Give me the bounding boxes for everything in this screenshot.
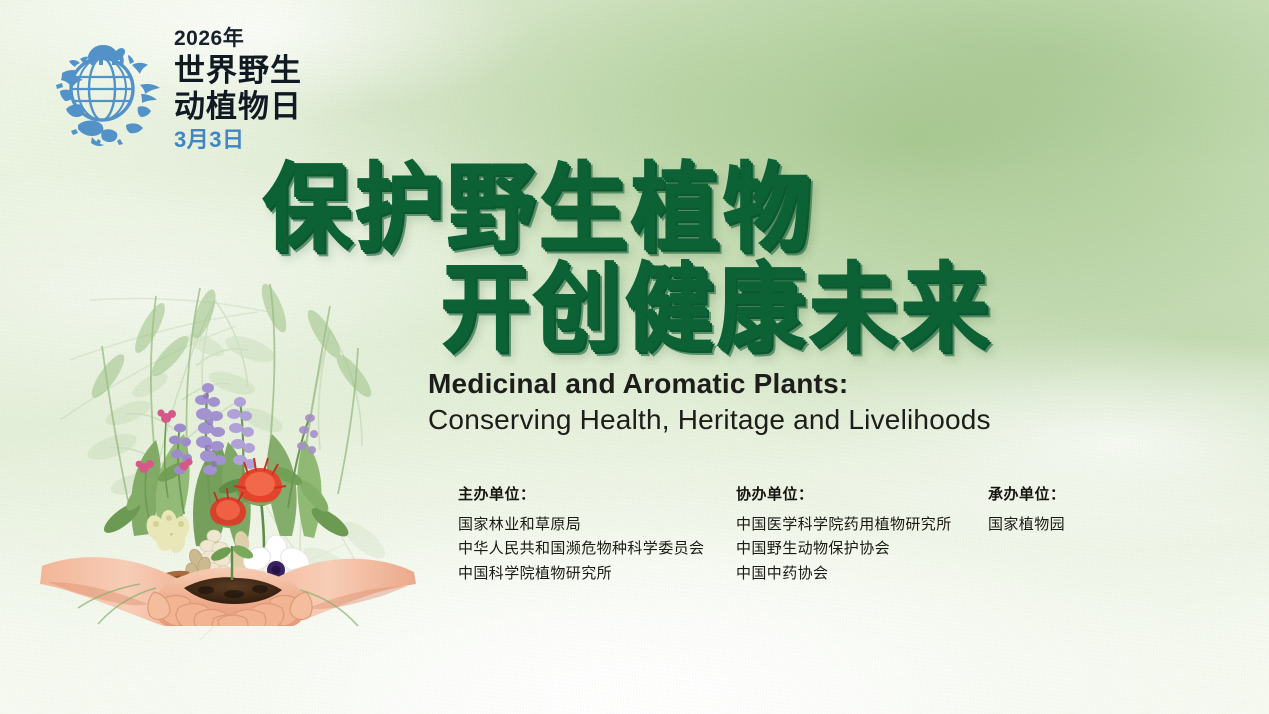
world-wildlife-day-logo: 2026年 世界野生 动植物日 3月3日 (40, 24, 302, 151)
subtitle-line2: Conserving Health, Heritage and Liveliho… (428, 402, 991, 438)
credits-item: 国家植物园 (988, 513, 1066, 537)
credits-block: 主办单位： 国家林业和草原局 中华人民共和国濒危物种科学委员会 中国科学院植物研… (458, 483, 1066, 586)
credits-heading: 协办单位： (736, 483, 988, 504)
credits-item: 中国医学科学院药用植物研究所 (736, 513, 988, 537)
logo-year: 2026年 (174, 28, 302, 49)
poster-canvas: 2026年 世界野生 动植物日 3月3日 保护野生植物 开创健康未来 Medic… (0, 0, 1269, 714)
credits-heading: 承办单位： (988, 483, 1066, 504)
credits-column-organizer: 主办单位： 国家林业和草原局 中华人民共和国濒危物种科学委员会 中国科学院植物研… (458, 483, 736, 586)
logo-title-line2: 动植物日 (174, 89, 302, 125)
logo-date: 3月3日 (174, 129, 302, 151)
credits-item: 中国科学院植物研究所 (458, 562, 736, 586)
credits-heading: 主办单位： (458, 483, 736, 504)
credits-column-host: 承办单位： 国家植物园 (988, 483, 1066, 537)
credits-item: 中国中药协会 (736, 562, 988, 586)
hands-holding-medicinal-plants-illustration (38, 236, 418, 626)
credits-column-cosponsor: 协办单位： 中国医学科学院药用植物研究所 中国野生动物保护协会 中国中药协会 (736, 483, 988, 586)
credits-item: 国家林业和草原局 (458, 513, 736, 537)
credits-item: 中华人民共和国濒危物种科学委员会 (458, 537, 736, 561)
english-subtitle: Medicinal and Aromatic Plants: Conservin… (428, 366, 991, 438)
logo-text-block: 2026年 世界野生 动植物日 3月3日 (174, 24, 302, 151)
subtitle-line1: Medicinal and Aromatic Plants: (428, 366, 991, 402)
logo-title-line1: 世界野生 (174, 53, 302, 89)
credits-item: 中国野生动物保护协会 (736, 537, 988, 561)
world-wildlife-day-globe-icon (40, 25, 164, 149)
